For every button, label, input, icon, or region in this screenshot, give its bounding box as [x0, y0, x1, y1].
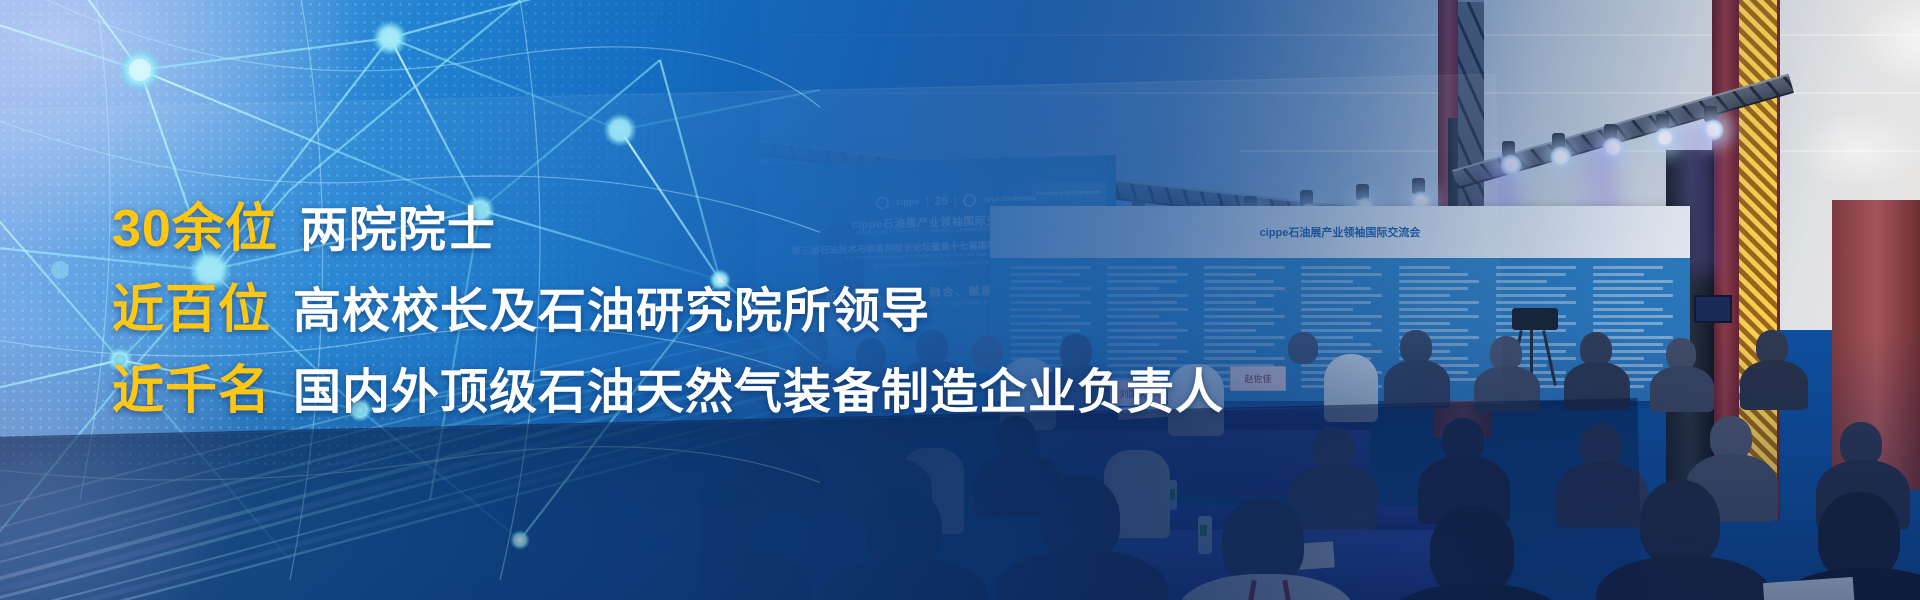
headline-3-text: 国内外顶级石油天然气装备制造企业负责人 [293, 352, 1224, 422]
conference-banner: cippe 25 cippe conference cippe石油展产业领袖国际… [0, 0, 1920, 600]
headline-1-highlight: 30余位 [112, 186, 278, 261]
headline-line-3: 近千名 国内外顶级石油天然气装备制造企业负责人 [112, 348, 1224, 423]
headline-line-1: 30余位 两院院士 [112, 186, 1224, 261]
headline-3-highlight: 近千名 [112, 348, 271, 423]
headline-1-text: 两院院士 [300, 190, 496, 260]
headline-2-text: 高校校长及石油研究院所领导 [293, 271, 930, 341]
headline-line-2: 近百位 高校校长及石油研究院所领导 [112, 267, 1224, 342]
headline-2-highlight: 近百位 [112, 267, 271, 342]
headline-block: 30余位 两院院士 近百位 高校校长及石油研究院所领导 近千名 国内外顶级石油天… [112, 186, 1224, 423]
